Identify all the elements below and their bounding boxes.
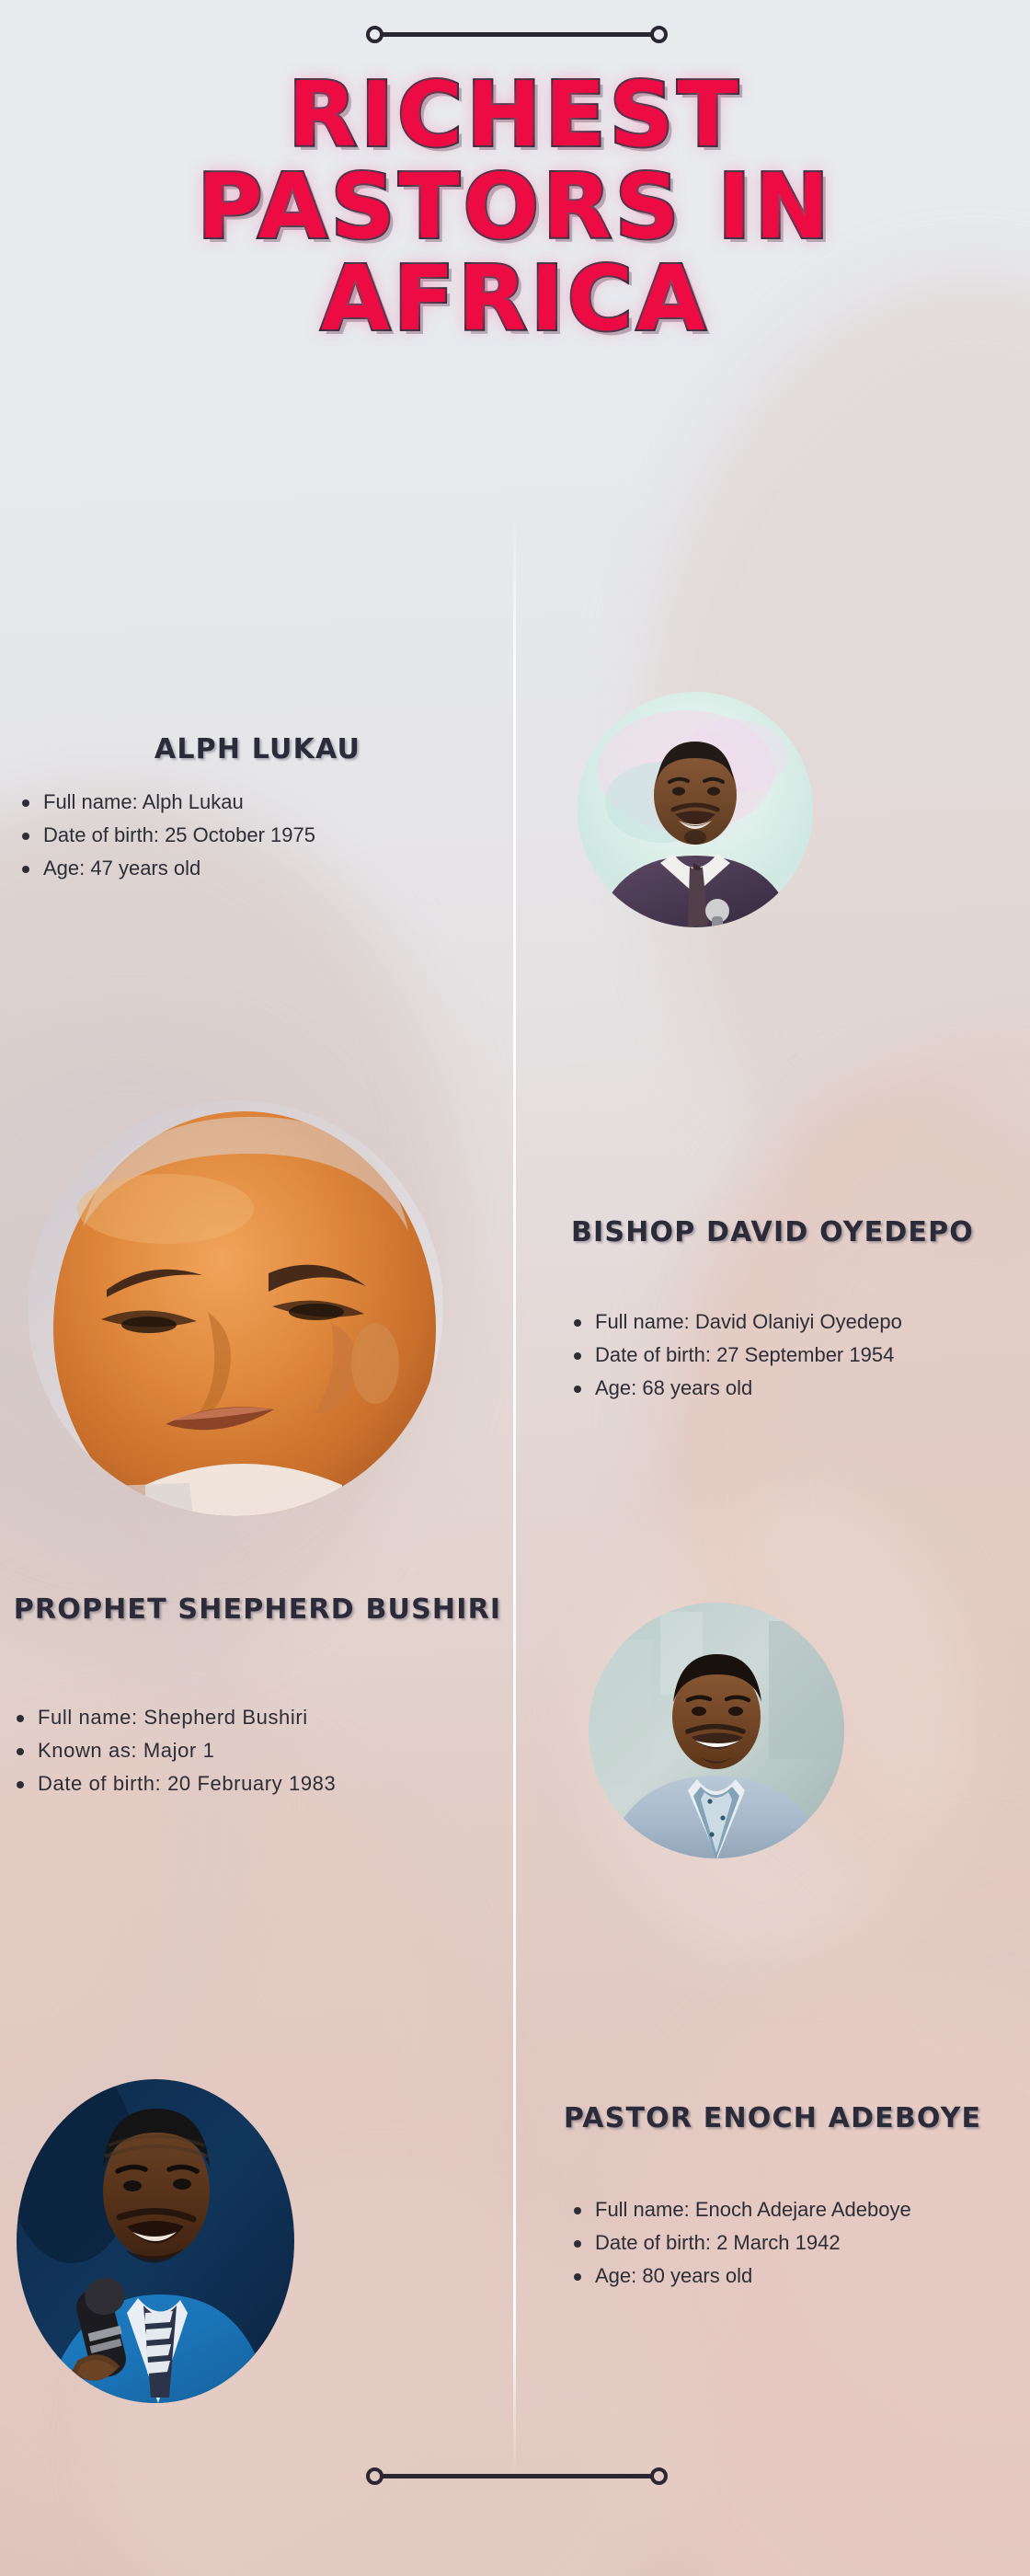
fact-item: Date of birth: 2 March 1942 bbox=[570, 2227, 1012, 2259]
portrait-bishop-david-oyedepo bbox=[28, 1100, 443, 1516]
horizontal-rule-icon bbox=[383, 2474, 651, 2478]
circle-icon bbox=[650, 2467, 668, 2485]
top-ornament bbox=[366, 26, 668, 43]
vertical-divider bbox=[513, 515, 516, 2475]
fact-item: Known as: Major 1 bbox=[13, 1735, 491, 1766]
title-line-2: PASTORS IN bbox=[0, 161, 1030, 253]
fact-item: Date of birth: 27 September 1954 bbox=[570, 1340, 1002, 1371]
fact-item: Age: 47 years old bbox=[18, 853, 497, 884]
entry-facts-alph-lukau: Full name: Alph Lukau Date of birth: 25 … bbox=[18, 787, 497, 886]
portrait-pastor-enoch-adeboye bbox=[17, 2079, 294, 2403]
entry-facts-bishop-david-oyedepo: Full name: David Olaniyi Oyedepo Date of… bbox=[570, 1306, 1002, 1406]
title-line-3: AFRICA bbox=[0, 253, 1030, 345]
horizontal-rule-icon bbox=[383, 32, 651, 37]
entry-name-pastor-enoch-adeboye: PASTOR ENOCH ADEBOYE bbox=[543, 2100, 1002, 2137]
fact-item: Full name: David Olaniyi Oyedepo bbox=[570, 1306, 1002, 1338]
fact-item: Full name: Enoch Adejare Adeboye bbox=[570, 2194, 1012, 2225]
fact-item: Full name: Shepherd Bushiri bbox=[13, 1702, 491, 1733]
circle-icon bbox=[650, 26, 668, 43]
entry-facts-prophet-shepherd-bushiri: Full name: Shepherd Bushiri Known as: Ma… bbox=[13, 1702, 491, 1801]
entry-facts-pastor-enoch-adeboye: Full name: Enoch Adejare Adeboye Date of… bbox=[570, 2194, 1012, 2294]
portrait-prophet-shepherd-bushiri bbox=[589, 1603, 844, 1858]
fact-item: Age: 68 years old bbox=[570, 1373, 1002, 1404]
fact-item: Age: 80 years old bbox=[570, 2260, 1012, 2292]
fact-item: Full name: Alph Lukau bbox=[18, 787, 497, 818]
bottom-ornament bbox=[366, 2467, 668, 2485]
fact-item: Date of birth: 20 February 1983 bbox=[13, 1768, 491, 1800]
page-title: RICHEST PASTORS IN AFRICA bbox=[0, 69, 1030, 345]
fact-item: Date of birth: 25 October 1975 bbox=[18, 820, 497, 851]
portrait-alph-lukau bbox=[578, 692, 813, 927]
title-line-1: RICHEST bbox=[0, 69, 1030, 161]
entry-name-alph-lukau: ALPH LUKAU bbox=[0, 731, 515, 768]
entry-name-bishop-david-oyedepo: BISHOP DAVID OYEDEPO bbox=[543, 1214, 1002, 1251]
entry-name-prophet-shepherd-bushiri: PROPHET SHEPHERD BUSHIRI bbox=[0, 1592, 515, 1628]
circle-icon bbox=[366, 26, 383, 43]
circle-icon bbox=[366, 2467, 383, 2485]
